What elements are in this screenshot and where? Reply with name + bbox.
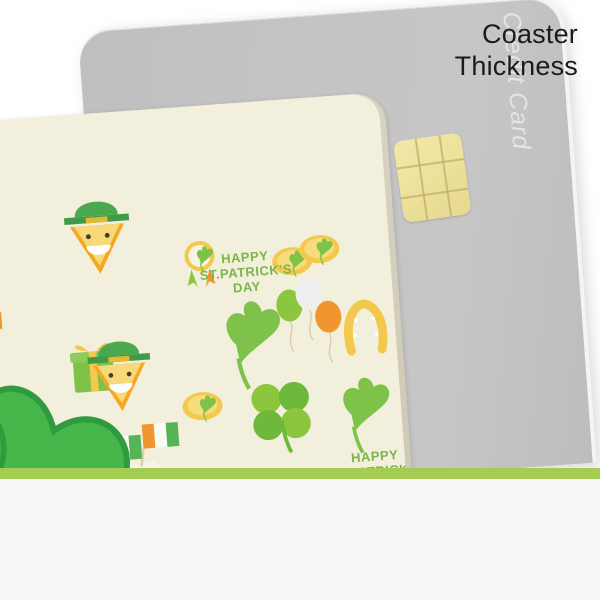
page-title-line-1: Coaster (455, 18, 578, 50)
emv-chip-icon (393, 132, 472, 223)
coaster-greeting-center: HAPPY ST.PATRICK'S DAY (189, 246, 302, 299)
comparison-infographic: Credit Card (0, 0, 600, 600)
page-title-line-2: Thickness (455, 50, 578, 82)
paper-coaster: HAPPY ST.PATRICK'S DAY HAPPY ST.PATRICK'… (0, 92, 413, 468)
thickness-legend: ~2mm Paper Coaster ~0.78mm Credit Card (0, 479, 600, 600)
product-scene: Credit Card (0, 0, 600, 468)
page-title: Coaster Thickness (455, 18, 578, 82)
green-divider (0, 468, 600, 479)
paper-coaster-face: HAPPY ST.PATRICK'S DAY HAPPY ST.PATRICK'… (0, 92, 407, 468)
